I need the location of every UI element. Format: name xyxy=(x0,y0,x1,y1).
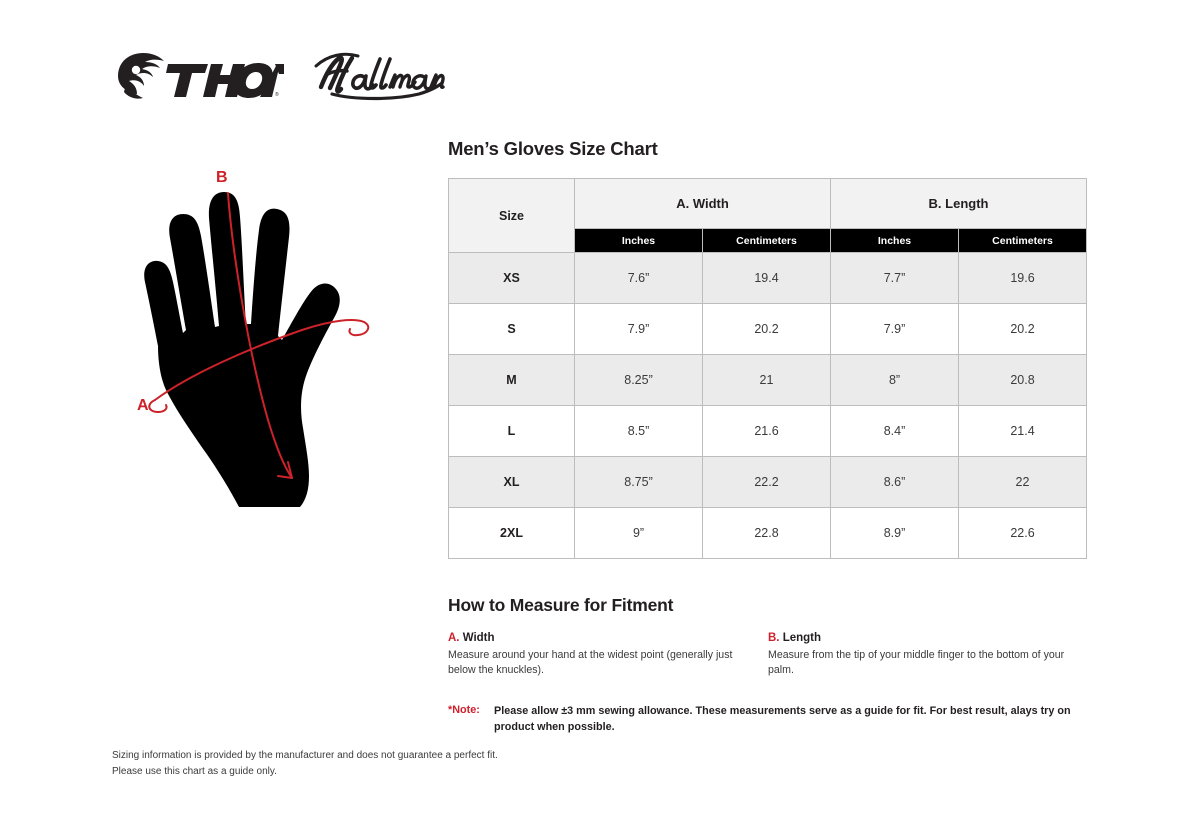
cell-width-cm: 21.6 xyxy=(703,406,831,457)
length-label-b: B xyxy=(216,169,228,186)
hand-diagram-icon: B A xyxy=(120,160,430,540)
measure-width-heading: A. Width xyxy=(448,632,738,644)
how-to-measure-columns: A. Width Measure around your hand at the… xyxy=(448,632,1088,678)
how-to-measure-title: How to Measure for Fitment xyxy=(448,595,1088,616)
footer-disclaimer: Sizing information is provided by the ma… xyxy=(112,748,498,779)
hand-measurement-diagram: B A xyxy=(120,160,430,540)
cell-length-cm: 22.6 xyxy=(959,508,1087,559)
header-group-width: A. Width xyxy=(575,179,831,229)
measure-length-text: Measure from the tip of your middle fing… xyxy=(768,648,1078,678)
table-body: XS 7.6” 19.4 7.7” 19.6 S 7.9” 20.2 7.9” … xyxy=(449,253,1087,559)
cell-size: S xyxy=(449,304,575,355)
cell-length-in: 7.9” xyxy=(831,304,959,355)
table-header-row-groups: Size A. Width B. Length xyxy=(449,179,1087,229)
cell-width-in: 7.9” xyxy=(575,304,703,355)
chart-column: Men’s Gloves Size Chart Size A. Width B.… xyxy=(448,138,1088,735)
brand-logo-row: ® xyxy=(112,50,446,102)
measure-width-text: Measure around your hand at the widest p… xyxy=(448,648,738,678)
table-row: XL 8.75” 22.2 8.6” 22 xyxy=(449,457,1087,508)
cell-length-cm: 22 xyxy=(959,457,1087,508)
cell-size: L xyxy=(449,406,575,457)
cell-length-cm: 21.4 xyxy=(959,406,1087,457)
cell-width-cm: 20.2 xyxy=(703,304,831,355)
measure-length-heading: B. Length xyxy=(768,632,1078,644)
header-length-centimeters: Centimeters xyxy=(959,229,1087,253)
table-row: XS 7.6” 19.4 7.7” 19.6 xyxy=(449,253,1087,304)
cell-width-in: 8.5” xyxy=(575,406,703,457)
hand-silhouette xyxy=(144,192,340,507)
hallman-logo-icon xyxy=(314,50,446,102)
cell-length-in: 8.9” xyxy=(831,508,959,559)
header-size: Size xyxy=(449,179,575,253)
table-row: L 8.5” 21.6 8.4” 21.4 xyxy=(449,406,1087,457)
table-row: S 7.9” 20.2 7.9” 20.2 xyxy=(449,304,1087,355)
size-chart-table: Size A. Width B. Length Inches Centimete… xyxy=(448,178,1087,559)
table-row: 2XL 9” 22.8 8.9” 22.6 xyxy=(449,508,1087,559)
table-row: M 8.25” 21 8” 20.8 xyxy=(449,355,1087,406)
note-section: *Note: Please allow ±3 mm sewing allowan… xyxy=(448,704,1088,735)
svg-text:®: ® xyxy=(275,91,279,98)
header-width-inches: Inches xyxy=(575,229,703,253)
footer-line-1: Sizing information is provided by the ma… xyxy=(112,748,498,764)
footer-line-2: Please use this chart as a guide only. xyxy=(112,764,498,780)
cell-length-in: 8” xyxy=(831,355,959,406)
measure-length-letter: B. xyxy=(768,632,780,644)
cell-width-cm: 21 xyxy=(703,355,831,406)
thor-logo-icon: ® xyxy=(112,50,284,102)
cell-size: XL xyxy=(449,457,575,508)
cell-width-cm: 19.4 xyxy=(703,253,831,304)
measure-width-letter: A. xyxy=(448,632,460,644)
cell-width-in: 8.75” xyxy=(575,457,703,508)
table-header: Size A. Width B. Length Inches Centimete… xyxy=(449,179,1087,253)
measure-width-name: Width xyxy=(460,632,495,644)
page-title: Men’s Gloves Size Chart xyxy=(448,138,1088,160)
cell-width-in: 9” xyxy=(575,508,703,559)
cell-length-in: 8.6” xyxy=(831,457,959,508)
cell-width-cm: 22.8 xyxy=(703,508,831,559)
cell-width-in: 8.25” xyxy=(575,355,703,406)
measure-width-block: A. Width Measure around your hand at the… xyxy=(448,632,768,678)
cell-size: XS xyxy=(449,253,575,304)
cell-length-cm: 19.6 xyxy=(959,253,1087,304)
cell-size: 2XL xyxy=(449,508,575,559)
header-length-inches: Inches xyxy=(831,229,959,253)
header-group-length: B. Length xyxy=(831,179,1087,229)
cell-size: M xyxy=(449,355,575,406)
cell-width-in: 7.6” xyxy=(575,253,703,304)
hallman-logo xyxy=(314,50,446,102)
measure-length-block: B. Length Measure from the tip of your m… xyxy=(768,632,1088,678)
cell-length-cm: 20.2 xyxy=(959,304,1087,355)
note-label: *Note: xyxy=(448,704,494,716)
how-to-measure-section: How to Measure for Fitment A. Width Meas… xyxy=(448,595,1088,678)
header-width-centimeters: Centimeters xyxy=(703,229,831,253)
note-text: Please allow ±3 mm sewing allowance. The… xyxy=(494,704,1084,735)
cell-length-in: 8.4” xyxy=(831,406,959,457)
thor-logo: ® xyxy=(112,50,284,102)
width-label-a: A xyxy=(137,397,149,414)
measure-length-name: Length xyxy=(780,632,822,644)
cell-length-in: 7.7” xyxy=(831,253,959,304)
cell-width-cm: 22.2 xyxy=(703,457,831,508)
cell-length-cm: 20.8 xyxy=(959,355,1087,406)
size-chart-page: ® xyxy=(0,0,1200,820)
